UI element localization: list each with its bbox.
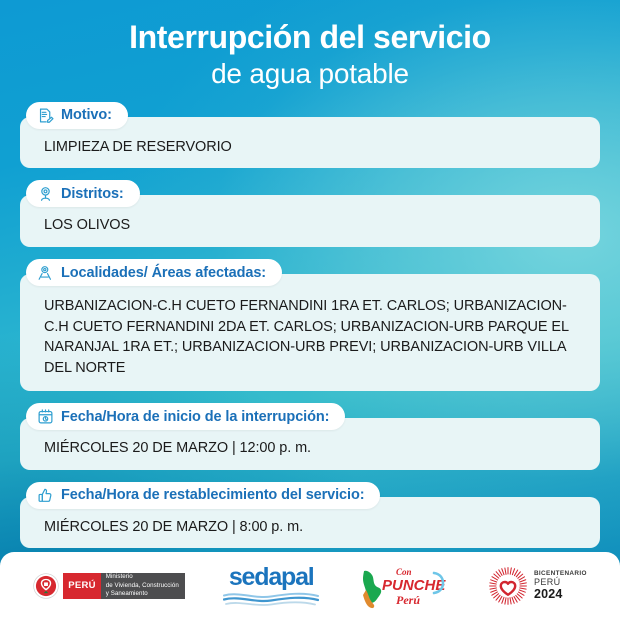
- section-fecha-restablecimiento-pill: Fecha/Hora de restablecimiento del servi…: [26, 482, 380, 509]
- section-fecha-inicio: Fecha/Hora de inicio de la interrupción:…: [20, 403, 600, 470]
- section-distritos-label: Distritos:: [61, 186, 124, 202]
- sedapal-wordmark: sedapal: [229, 565, 314, 590]
- sedapal-waves-icon: [223, 591, 319, 607]
- poster-header: Interrupción del servicio de agua potabl…: [0, 0, 620, 90]
- section-fecha-inicio-pill: Fecha/Hora de inicio de la interrupción:: [26, 403, 345, 430]
- map-area-icon: [37, 264, 54, 281]
- ministerio-peru-block: PERÚ: [63, 573, 101, 599]
- section-localidades-pill: Localidades/ Áreas afectadas:: [26, 259, 282, 286]
- section-localidades: Localidades/ Áreas afectadas: URBANIZACI…: [20, 259, 600, 391]
- section-distritos: Distritos: LOS OLIVOS: [20, 180, 600, 247]
- section-fecha-restablecimiento: Fecha/Hora de restablecimiento del servi…: [20, 482, 600, 549]
- logo-sedapal: sedapal: [223, 565, 319, 607]
- calendar-clock-icon: [37, 408, 54, 425]
- bicentenario-line-3: 2024: [534, 588, 587, 601]
- logo-con-punche-peru: Con PUNCHE Perú: [358, 563, 450, 609]
- document-pencil-icon: [37, 107, 54, 124]
- section-localidades-card: URBANIZACION-C.H CUETO FERNANDINI 1RA ET…: [20, 274, 600, 391]
- ministerio-line-2: de Vivienda, Construcción: [106, 582, 179, 591]
- peru-coat-of-arms-icon: [33, 573, 59, 599]
- section-motivo-label: Motivo:: [61, 107, 112, 123]
- location-pin-icon: [37, 185, 54, 202]
- ministerio-name-block: Ministerio de Vivienda, Construcción y S…: [101, 573, 185, 599]
- section-motivo: Motivo: LIMPIEZA DE RESERVORIO: [20, 102, 600, 169]
- section-motivo-value: LIMPIEZA DE RESERVORIO: [44, 137, 584, 158]
- bicentenario-sunburst-icon: [488, 566, 528, 606]
- section-fecha-restablecimiento-label: Fecha/Hora de restablecimiento del servi…: [61, 487, 364, 503]
- section-fecha-inicio-label: Fecha/Hora de inicio de la interrupción:: [61, 409, 329, 425]
- footer-logo-bar: PERÚ Ministerio de Vivienda, Construcció…: [0, 552, 620, 620]
- info-sections: Motivo: LIMPIEZA DE RESERVORIO Distritos…: [0, 90, 620, 549]
- section-localidades-value: URBANIZACION-C.H CUETO FERNANDINI 1RA ET…: [44, 296, 582, 378]
- page-title-line2: de agua potable: [0, 57, 620, 90]
- poster-canvas: Interrupción del servicio de agua potabl…: [0, 0, 620, 620]
- svg-text:Con: Con: [396, 567, 412, 577]
- bicentenario-text-block: BICENTENARIO PERÚ 2024: [534, 571, 587, 600]
- page-title-line1: Interrupción del servicio: [0, 20, 620, 56]
- section-localidades-label: Localidades/ Áreas afectadas:: [61, 265, 266, 281]
- section-distritos-pill: Distritos:: [26, 180, 140, 207]
- section-fecha-inicio-value: MIÉRCOLES 20 DE MARZO | 12:00 p. m.: [44, 438, 584, 459]
- section-fecha-restablecimiento-value: MIÉRCOLES 20 DE MARZO | 8:00 p. m.: [44, 517, 584, 538]
- ministerio-line-1: Ministerio: [106, 573, 179, 582]
- section-distritos-value: LOS OLIVOS: [44, 215, 584, 236]
- thumbs-up-icon: [37, 487, 54, 504]
- svg-text:Perú: Perú: [396, 593, 420, 607]
- ministerio-line-3: y Saneamiento: [106, 590, 179, 599]
- logo-ministerio-vivienda: PERÚ Ministerio de Vivienda, Construcció…: [33, 573, 185, 599]
- section-motivo-pill: Motivo:: [26, 102, 128, 129]
- logo-bicentenario-peru: BICENTENARIO PERÚ 2024: [488, 566, 587, 606]
